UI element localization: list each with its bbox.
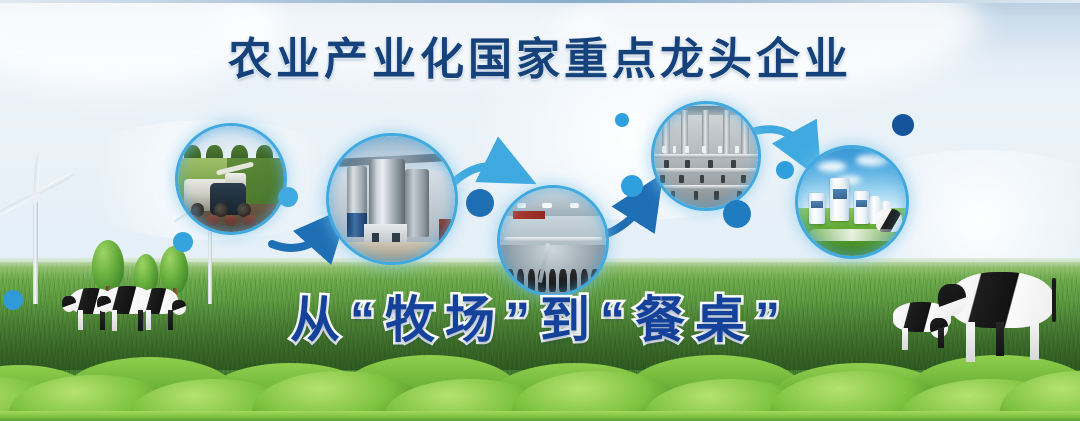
accent-dot xyxy=(466,189,494,217)
dairy-industry-banner: 农业产业化国家重点龙头企业 从“牧场”到“餐桌” xyxy=(0,0,1080,421)
headline-slogan: 从“牧场”到“餐桌” xyxy=(0,295,1080,345)
accent-dot xyxy=(892,114,914,136)
accent-dot xyxy=(621,175,643,197)
accent-dot xyxy=(615,113,629,127)
accent-dot xyxy=(723,200,751,228)
accent-dot xyxy=(776,161,794,179)
node-feed-processing[interactable] xyxy=(329,136,455,262)
page-title: 农业产业化国家重点龙头企业 xyxy=(0,38,1080,82)
node-milk-products[interactable] xyxy=(798,148,906,256)
arrow-node1-node2 xyxy=(272,230,328,248)
accent-dot xyxy=(173,232,193,252)
node-forage-harvesting[interactable] xyxy=(178,126,284,232)
node-milking-parlor[interactable] xyxy=(500,188,606,294)
arrow-node2-node3 xyxy=(454,166,508,182)
accent-dot xyxy=(278,187,298,207)
node-dairy-plant[interactable] xyxy=(654,104,758,208)
